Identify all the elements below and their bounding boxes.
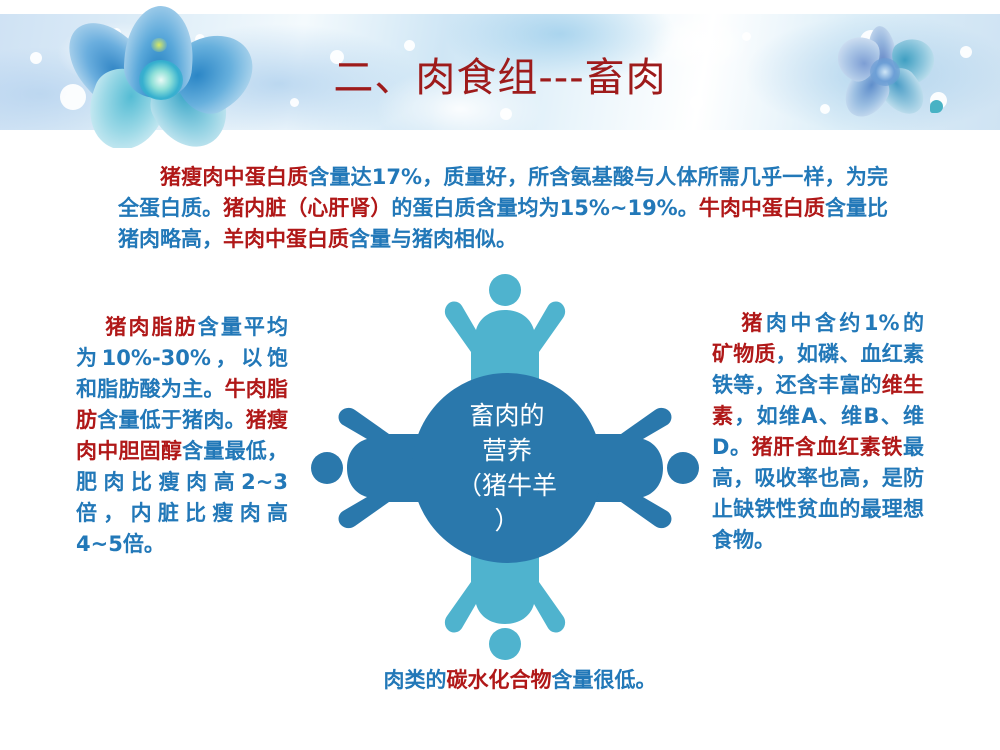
slide-canvas: 二、肉食组---畜肉 猪瘦肉中蛋白质含量达17%，质量好，所含氨基酸与人体所需几…: [0, 0, 1000, 750]
text-run-blue: 含量很低。: [552, 668, 657, 692]
text-run-blue: 肉中含约1%的: [766, 311, 924, 335]
text-run-blue: 含量与猪肉相似。: [349, 227, 517, 251]
text-run-red: 羊肉中蛋白质: [223, 227, 349, 251]
bokeh-dot: [742, 32, 751, 41]
text-run-red: 猪肝含血红素铁: [752, 435, 903, 459]
text-run-red: 猪瘦肉中蛋白质: [160, 165, 308, 189]
nutrition-diagram: 畜肉的 营养 （猪牛羊 ）: [305, 272, 705, 662]
text-run-red: 牛肉中蛋白质: [699, 196, 825, 220]
bokeh-dot: [404, 40, 415, 51]
protein-paragraph: 猪瘦肉中蛋白质含量达17%，质量好，所含氨基酸与人体所需几乎一样，为完全蛋白质。…: [118, 162, 888, 255]
bokeh-dot: [500, 108, 512, 120]
carbohydrate-paragraph: 肉类的碳水化合物含量很低。: [300, 665, 740, 695]
flower-pollen: [151, 38, 167, 52]
center-circle: [412, 373, 602, 563]
mineral-column-text: 猪肉中含约1%的矿物质，如磷、血红素铁等，还含丰富的维生素，如维A、维B、维D。…: [712, 308, 924, 556]
text-run-blue: 的蛋白质含量均为15%~19%。: [391, 196, 698, 220]
text-run-red: 猪肉脂肪: [105, 315, 197, 339]
text-run-red: 猪: [741, 311, 766, 335]
text-run-red: 矿物质: [712, 342, 776, 366]
text-run-red: 碳水化合物: [447, 668, 552, 692]
bokeh-dot: [820, 104, 830, 114]
page-title: 二、肉食组---畜肉: [0, 52, 1000, 104]
fat-column-text: 猪肉脂肪含量平均为10%-30%，以饱和脂肪酸为主。牛肉脂肪含量低于猪肉。猪瘦肉…: [76, 312, 288, 560]
text-run-red: 猪内脏（心肝肾）: [223, 196, 391, 220]
text-run-blue: 肉类的: [384, 668, 447, 692]
text-run-blue: 含量低于猪肉。: [97, 408, 246, 432]
